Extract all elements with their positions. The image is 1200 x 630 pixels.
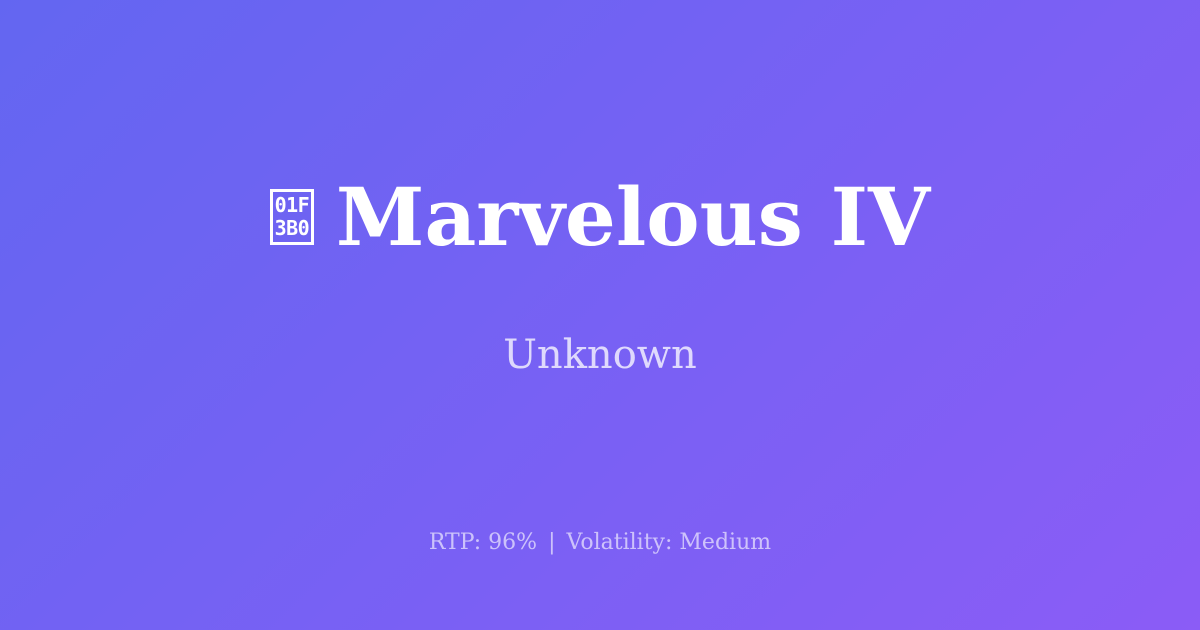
rtp-label: RTP: — [429, 530, 481, 555]
slot-machine-icon: 01F 3B0 — [270, 189, 314, 245]
hexbox-bottom-code: 3B0 — [275, 217, 310, 240]
volatility-value: Medium — [679, 530, 771, 555]
hexbox-top-code: 01F — [275, 194, 310, 217]
game-stats-line: RTP: 96% | Volatility: Medium — [0, 529, 1200, 558]
game-preview-card: 01F 3B0 Marvelous IV Unknown RTP: 96% | … — [0, 0, 1200, 630]
volatility-label: Volatility: — [567, 530, 673, 555]
game-title: Marvelous IV — [336, 175, 930, 260]
stats-separator: | — [544, 530, 559, 555]
game-provider-subtitle: Unknown — [503, 259, 697, 379]
hero-block: 01F 3B0 Marvelous IV Unknown — [270, 175, 930, 380]
rtp-value: 96% — [488, 530, 537, 555]
title-row: 01F 3B0 Marvelous IV — [270, 175, 930, 260]
